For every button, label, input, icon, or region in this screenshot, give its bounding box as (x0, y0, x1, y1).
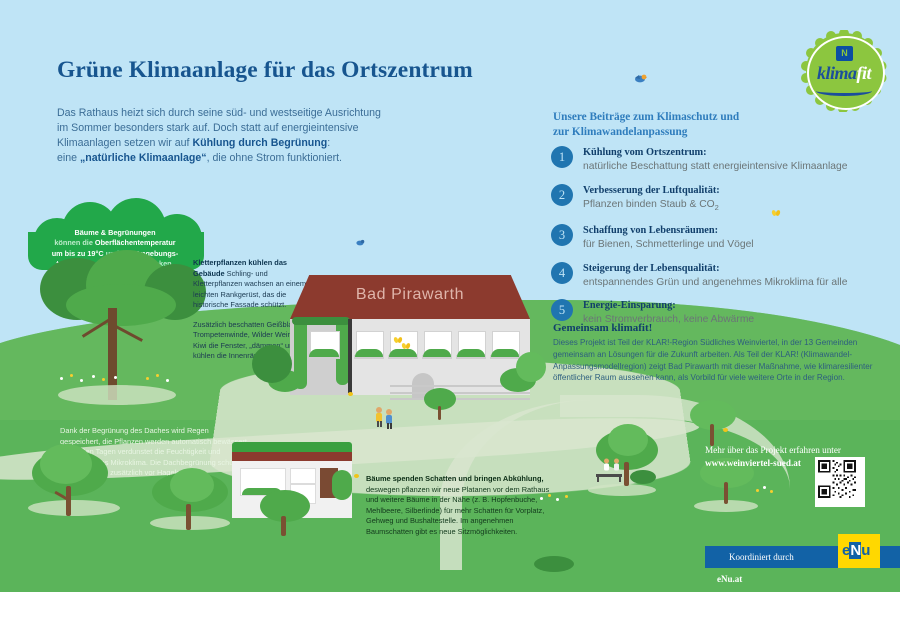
badge-word-klima: klima (817, 63, 857, 83)
benefit-number-badge: 3 (551, 224, 573, 246)
benefits-title: Unsere Beiträge zum Klimaschutz und zur … (553, 110, 873, 140)
window-box-plant (491, 349, 519, 357)
klimafit-logo: N klimafit (800, 30, 888, 112)
benefit-description: natürliche Beschattung statt energieinte… (583, 160, 891, 174)
fact-line-2-pre: können die (54, 238, 95, 247)
fact-line-2-bold: Oberflächentemperatur (95, 238, 176, 247)
intro-line-4-post: , die ohne Strom funktioniert. (207, 152, 342, 164)
project-url: www.weinviertel-sued.at (705, 458, 801, 468)
downpipe (348, 319, 352, 393)
more-info-line: Mehr über das Projekt erfahren unter (705, 445, 841, 455)
intro-line-4-bold: „natürliche Klimaanlage“ (80, 152, 207, 164)
bush (252, 345, 292, 383)
tree (32, 450, 108, 516)
bush (630, 470, 656, 484)
list-item: 4 Steigerung der Lebensqualität: entspan… (551, 262, 891, 290)
bee-icon (348, 392, 353, 396)
tree (690, 400, 736, 446)
badge-word-fit: fit (857, 63, 872, 83)
butterfly-icon (402, 343, 410, 350)
bush (516, 352, 546, 382)
qr-code[interactable] (815, 457, 865, 507)
list-item: 1 Kühlung vom Ortszentrum: natürliche Be… (551, 146, 891, 174)
benefit-heading: Schaffung von Lebensräumen: (583, 224, 891, 237)
together-title: Gemeinsam klimafit! (553, 322, 883, 334)
intro-line-3-post: : (327, 137, 330, 149)
small-tree (424, 388, 456, 420)
window-box-plant (389, 349, 417, 357)
badge-wordmark: klimafit (808, 63, 880, 84)
butterfly-icon (772, 210, 780, 217)
shop-side-greenery (332, 470, 352, 500)
benefits-title-line-2: zur Klimawandelanpassung (553, 126, 687, 138)
benefit-number-badge: 2 (551, 184, 573, 206)
intro-line-3-bold: Kühlung durch Begrünung (192, 137, 327, 149)
infographic-poster: Grüne Klimaanlage für das Ortszentrum Da… (0, 0, 900, 637)
window-box-plant (355, 349, 383, 357)
page-title: Grüne Klimaanlage für das Ortszentrum (57, 57, 527, 84)
co2-subscript: 2 (715, 203, 719, 212)
benefit-description-text: Pflanzen binden Staub & CO (583, 199, 715, 210)
person-figure (384, 408, 398, 430)
benefit-heading: Steigerung der Lebensqualität: (583, 262, 891, 275)
benefit-heading: Kühlung vom Ortszentrum: (583, 146, 891, 159)
bush (534, 556, 574, 572)
tree-shadow (58, 385, 176, 405)
qr-code-icon (818, 460, 856, 498)
benefit-number-badge: 5 (551, 299, 573, 321)
person-figure (612, 458, 621, 472)
flower-cluster (756, 486, 780, 496)
benefit-description: entspannendes Grün und angenehmes Mikrok… (583, 276, 891, 290)
intro-line-4-pre: eine (57, 152, 80, 164)
intro-line-3-pre: Klimaanlagen setzen wir auf (57, 137, 192, 149)
badge-underline (816, 86, 872, 96)
bee-icon (354, 474, 359, 478)
tree (152, 472, 228, 530)
benefit-description: für Bienen, Schmetterlinge und Vögel (583, 238, 891, 252)
trees-shade-rest: deswegen pflanzen wir neue Platanen vor … (366, 485, 549, 536)
tree (260, 490, 310, 536)
partner-logo-strip: Südliches SÜDLICHES WEINVIERTEL klima en… (0, 592, 900, 637)
list-item: 3 Schaffung von Lebensräumen: für Bienen… (551, 224, 891, 252)
benefits-title-line-1: Unsere Beiträge zum Klimaschutz und (553, 111, 739, 123)
person-figure (602, 458, 611, 472)
benefit-description: Pflanzen binden Staub & CO2 (583, 198, 891, 215)
benefit-heading: Energie-Einsparung: (583, 299, 891, 312)
bird-icon (633, 72, 647, 84)
bee-icon (723, 428, 728, 432)
coordination-brand: eNu.at (717, 574, 742, 584)
enu-logo: eNu (838, 534, 880, 568)
town-hall-name: Bad Pirawarth (290, 286, 530, 304)
enu-letter-u: u (861, 542, 869, 559)
small-bird-icon (355, 238, 365, 246)
green-roof (232, 442, 352, 452)
town-hall-illustration: Bad Pirawarth (290, 275, 530, 395)
flower-cluster (540, 494, 576, 504)
flower-cluster (56, 374, 176, 386)
shop-roof-tiles (232, 452, 352, 461)
intro-line-1: Das Rathaus heizt sich durch seine süd- … (57, 107, 381, 119)
lower-austria-n-icon: N (836, 46, 853, 61)
butterfly-icon (394, 337, 402, 344)
together-body: Dieses Projekt ist Teil der KLAR!-Region… (553, 337, 890, 384)
list-item: 2 Verbesserung der Luftqualität: Pflanze… (551, 184, 891, 215)
benefits-list: 1 Kühlung vom Ortszentrum: natürliche Be… (551, 146, 891, 337)
window-box-plant (457, 349, 485, 357)
enu-wordmark: eNu (842, 542, 876, 559)
intro-line-2: im Sommer besonders stark auf. Doch stat… (57, 122, 358, 134)
intro-paragraph: Das Rathaus heizt sich durch seine süd- … (57, 106, 457, 166)
benefit-heading: Verbesserung der Luftqualität: (583, 184, 891, 197)
trees-shade-bold: Bäume spenden Schatten und bringen Abküh… (366, 474, 544, 483)
fact-line-1: Bäume & Begrünungen (74, 228, 155, 237)
enu-letter-n: N (849, 542, 861, 559)
shop-window (290, 468, 316, 484)
benefit-number-badge: 1 (551, 146, 573, 168)
ivy-top (292, 317, 350, 325)
trees-shade-text: Bäume spenden Schatten und bringen Abküh… (366, 474, 559, 538)
window-box-plant (309, 349, 339, 357)
benefit-number-badge: 4 (551, 262, 573, 284)
window-box-plant (423, 349, 451, 357)
